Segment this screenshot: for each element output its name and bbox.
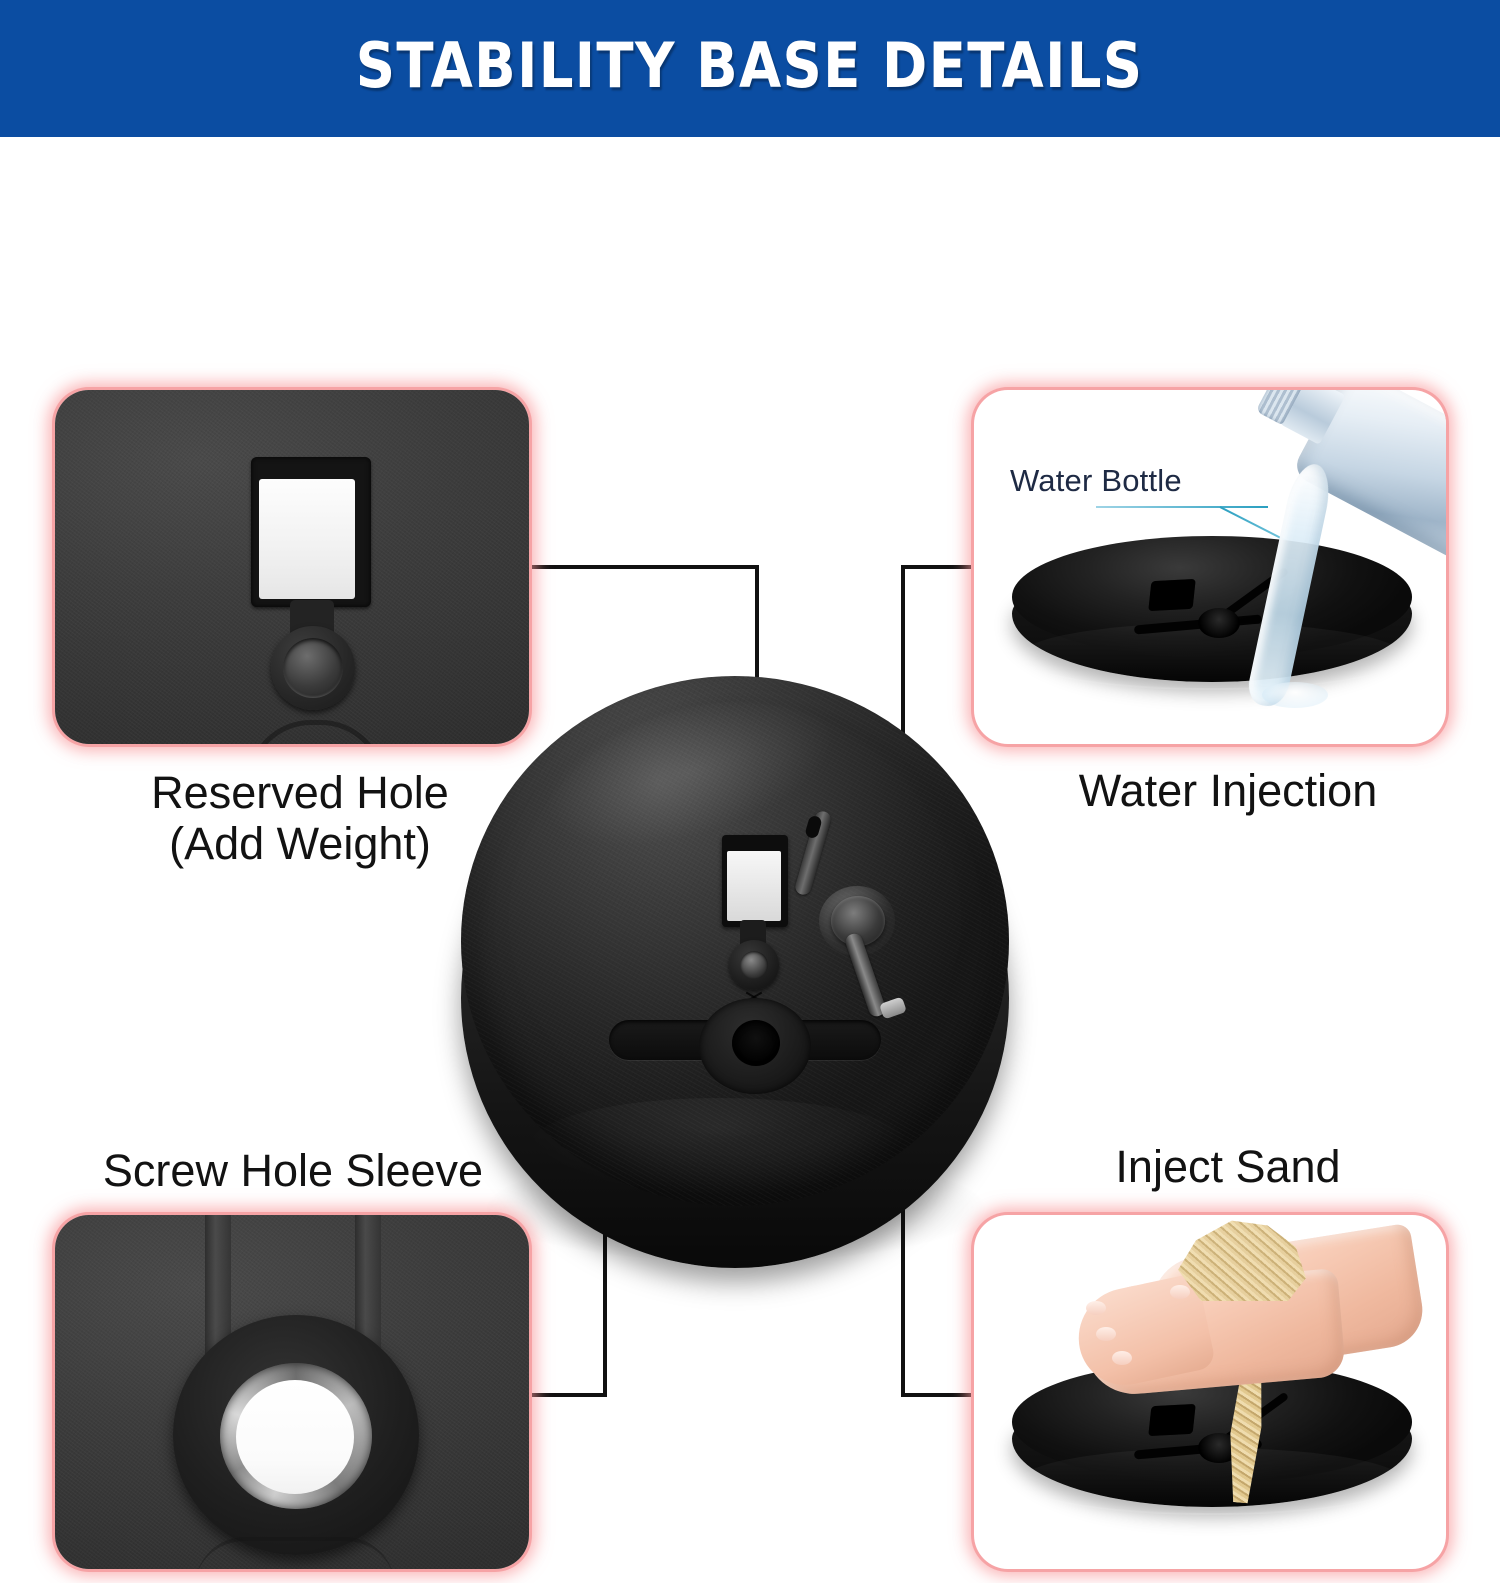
page-title: STABILITY BASE DETAILS [356, 35, 1144, 97]
screw-hole-ring-icon [729, 940, 779, 990]
base-puck-water [1012, 536, 1412, 726]
screw-sleeve-bore [236, 1380, 354, 1494]
screw-sleeve-threads [220, 1363, 372, 1509]
reserved-hole-closeup [251, 457, 371, 607]
fingernail [1112, 1351, 1132, 1365]
locking-lever-handle [783, 810, 923, 1020]
center-product-base [453, 668, 1016, 1298]
water-splash [1262, 682, 1328, 708]
fingernail [1086, 1301, 1106, 1315]
puck-reserved-slot [1148, 579, 1195, 611]
caption-line-1: Screw Hole Sleeve [103, 1145, 483, 1196]
puck-fill-hole [1198, 608, 1240, 638]
caption-line-1: Reserved Hole [151, 767, 449, 818]
annotation-underline [1096, 506, 1268, 508]
fill-hole [732, 1020, 780, 1066]
caption-line-2: (Add Weight) [151, 818, 449, 869]
caption-line-1: Water Injection [1079, 765, 1377, 816]
panel-reserved-hole[interactable] [55, 390, 529, 744]
reserved-hole-slot-icon [722, 835, 788, 927]
reserved-hole-opening [727, 851, 781, 921]
puck-reserved-slot [1148, 1404, 1195, 1436]
diagram-stage: Water Bottle [0, 137, 1500, 1446]
caption-screw-hole-sleeve: Screw Hole Sleeve [103, 1145, 483, 1196]
panel-water-injection[interactable]: Water Bottle [974, 390, 1446, 744]
base-lower-sheen [529, 1098, 909, 1194]
sand-pile [1178, 1219, 1306, 1301]
base-puck-sand [1012, 1361, 1412, 1551]
fingernail [1170, 1285, 1190, 1299]
caption-inject-sand: Inject Sand [1115, 1141, 1340, 1192]
caption-reserved-hole: Reserved Hole (Add Weight) [151, 767, 449, 870]
screw-hole-bore [740, 951, 768, 979]
water-bottle-annotation: Water Bottle [1010, 463, 1182, 499]
lower-molded-arc [195, 1537, 395, 1569]
panel-screw-hole-sleeve[interactable] [55, 1215, 529, 1569]
panel-inject-sand[interactable] [974, 1215, 1446, 1569]
caption-line-1: Inject Sand [1115, 1141, 1340, 1192]
reserved-hole-opening-closeup [259, 479, 355, 599]
header-banner: STABILITY BASE DETAILS [0, 0, 1500, 131]
caption-water-injection: Water Injection [1079, 765, 1377, 816]
screw-ring-closeup [271, 626, 355, 710]
screw-ring-bore-closeup [283, 638, 343, 698]
fingernail [1096, 1327, 1116, 1341]
